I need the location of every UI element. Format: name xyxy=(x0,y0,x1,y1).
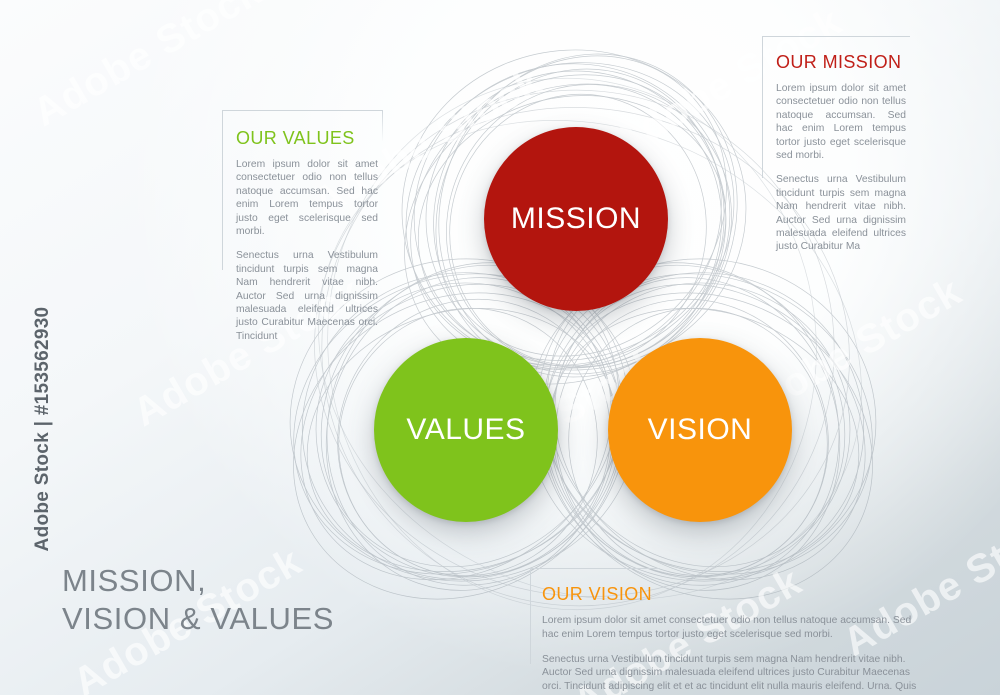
panel-values: OUR VALUES Lorem ipsum dolor sit amet co… xyxy=(222,110,386,343)
page-title-line-1: MISSION, xyxy=(62,562,334,600)
values-paragraph-1: Lorem ipsum dolor sit amet consectetuer … xyxy=(236,158,378,238)
values-paragraph-2: Senectus urna Vestibulum tincidunt turpi… xyxy=(236,249,378,343)
bubble-vision[interactable]: VISION xyxy=(608,338,792,522)
bubble-values[interactable]: VALUES xyxy=(374,338,558,522)
vision-paragraph-1: Lorem ipsum dolor sit amet consectetuer … xyxy=(542,614,924,642)
page-title: MISSION, VISION & VALUES xyxy=(62,562,334,638)
vision-heading: OUR VISION xyxy=(542,584,924,605)
infographic-canvas: Adobe Stock Adobe Stock Adobe Stock Adob… xyxy=(0,0,1000,695)
mission-paragraph-1: Lorem ipsum dolor sit amet consectetuer … xyxy=(776,82,906,162)
values-heading: OUR VALUES xyxy=(236,128,378,149)
panel-vision: OUR VISION Lorem ipsum dolor sit amet co… xyxy=(530,568,930,695)
bubble-mission[interactable]: MISSION xyxy=(484,127,668,311)
vision-paragraph-2: Senectus urna Vestibulum tincidunt turpi… xyxy=(542,653,924,695)
mission-heading: OUR MISSION xyxy=(776,52,906,73)
mission-paragraph-2: Senectus urna Vestibulum tincidunt turpi… xyxy=(776,173,906,253)
bubble-values-label: VALUES xyxy=(406,413,525,447)
page-title-line-2: VISION & VALUES xyxy=(62,600,334,638)
watermark-stock-id: Adobe Stock | #153562930 xyxy=(32,299,54,559)
bubble-vision-label: VISION xyxy=(648,413,753,447)
bubble-mission-label: MISSION xyxy=(511,202,641,236)
panel-mission: OUR MISSION Lorem ipsum dolor sit amet c… xyxy=(762,36,912,254)
